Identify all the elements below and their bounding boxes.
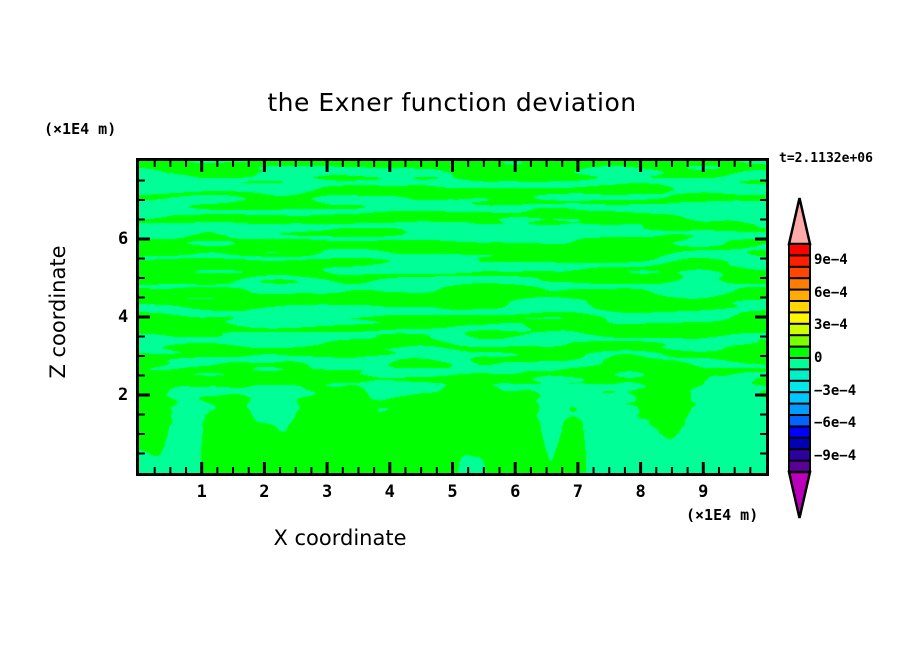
colorbar-band <box>789 415 810 427</box>
page-title: the Exner function deviation <box>0 88 904 117</box>
colorbar-band <box>789 267 810 279</box>
colorbar-band <box>789 438 810 450</box>
x-tick-label: 3 <box>322 482 332 502</box>
x-tick-label: 7 <box>573 482 583 502</box>
colorbar-band <box>789 358 810 370</box>
colorbar-band <box>789 290 810 302</box>
y-axis-title: Z coordinate <box>46 232 70 392</box>
colorbar-tick-label: 9e−4 <box>814 252 848 268</box>
colorbar-band <box>789 449 810 461</box>
x-axis-unit-label: (×1E4 m) <box>686 506 758 524</box>
x-tick-label: 5 <box>447 482 457 502</box>
colorbar-band <box>789 255 810 267</box>
x-tick-label: 1 <box>197 482 207 502</box>
x-tick-label: 4 <box>385 482 395 502</box>
colorbar-tick-label: −9e−4 <box>814 448 856 464</box>
x-tick-label: 8 <box>635 482 645 502</box>
colorbar-band <box>789 347 810 359</box>
colorbar-band <box>789 381 810 393</box>
colorbar-tick-label: 3e−4 <box>814 317 848 333</box>
time-annotation: t=2.1132e+06 <box>779 151 873 166</box>
y-tick-label: 2 <box>118 385 128 405</box>
colorbar-band <box>789 369 810 381</box>
colorbar-tick-label: −3e−4 <box>814 383 856 399</box>
x-tick-label: 9 <box>698 482 708 502</box>
x-axis-title: X coordinate <box>0 526 680 550</box>
y-tick-label: 6 <box>118 229 128 249</box>
colorbar-band <box>789 404 810 416</box>
x-tick-label: 6 <box>510 482 520 502</box>
colorbar-tick-label: 0 <box>814 350 822 366</box>
colorbar-tick-label: −6e−4 <box>814 415 856 431</box>
colorbar-band <box>789 278 810 290</box>
colorbar-band <box>789 312 810 324</box>
contour-plot-area <box>136 158 769 476</box>
y-axis-unit-label: (×1E4 m) <box>44 120 116 138</box>
colorbar-band <box>789 324 810 336</box>
colorbar-band <box>789 335 810 347</box>
contour-field-canvas <box>139 161 766 473</box>
colorbar-under-arrow <box>789 472 810 518</box>
colorbar-band <box>789 301 810 313</box>
colorbar-band <box>789 426 810 438</box>
y-tick-label: 4 <box>118 307 128 327</box>
colorbar-band <box>789 461 810 473</box>
colorbar-band <box>789 244 810 256</box>
x-tick-label: 2 <box>259 482 269 502</box>
colorbar-band <box>789 392 810 404</box>
colorbar-over-arrow <box>789 198 810 244</box>
colorbar-tick-label: 6e−4 <box>814 285 848 301</box>
